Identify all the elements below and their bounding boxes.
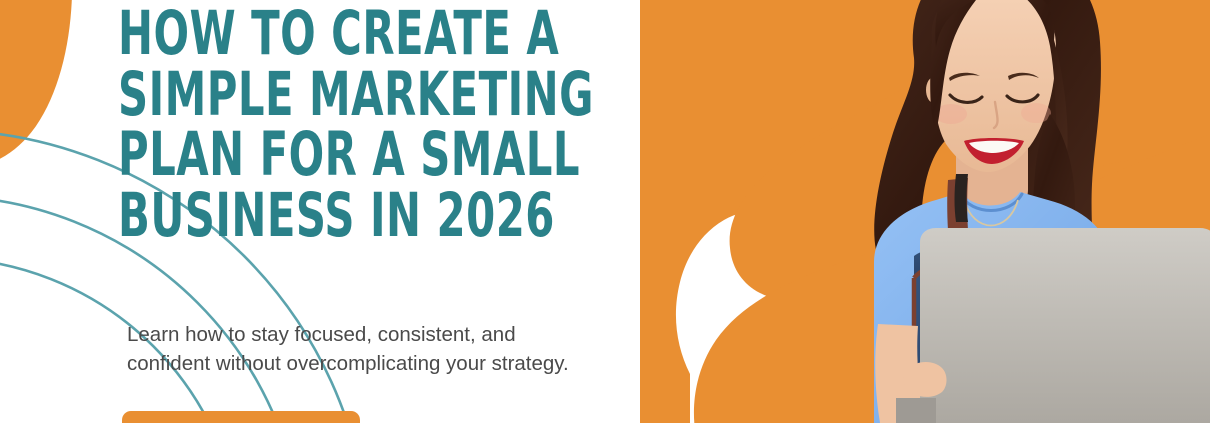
page-title: HOW TO CREATE A SIMPLE MARKETING PLAN FO… bbox=[118, 4, 639, 246]
text-column: HOW TO CREATE A SIMPLE MARKETING PLAN FO… bbox=[118, 0, 678, 423]
subtitle-text: Learn how to stay focused, consistent, a… bbox=[127, 320, 672, 378]
marketing-banner: HOW TO CREATE A SIMPLE MARKETING PLAN FO… bbox=[0, 0, 1210, 423]
laptop-lid bbox=[920, 228, 1210, 423]
apron-strap-dark bbox=[955, 174, 969, 222]
cta-button[interactable] bbox=[122, 411, 360, 423]
subject-photo-woman-with-laptop bbox=[796, 0, 1210, 423]
blush-right bbox=[1021, 103, 1051, 123]
laptop-base bbox=[896, 398, 936, 423]
